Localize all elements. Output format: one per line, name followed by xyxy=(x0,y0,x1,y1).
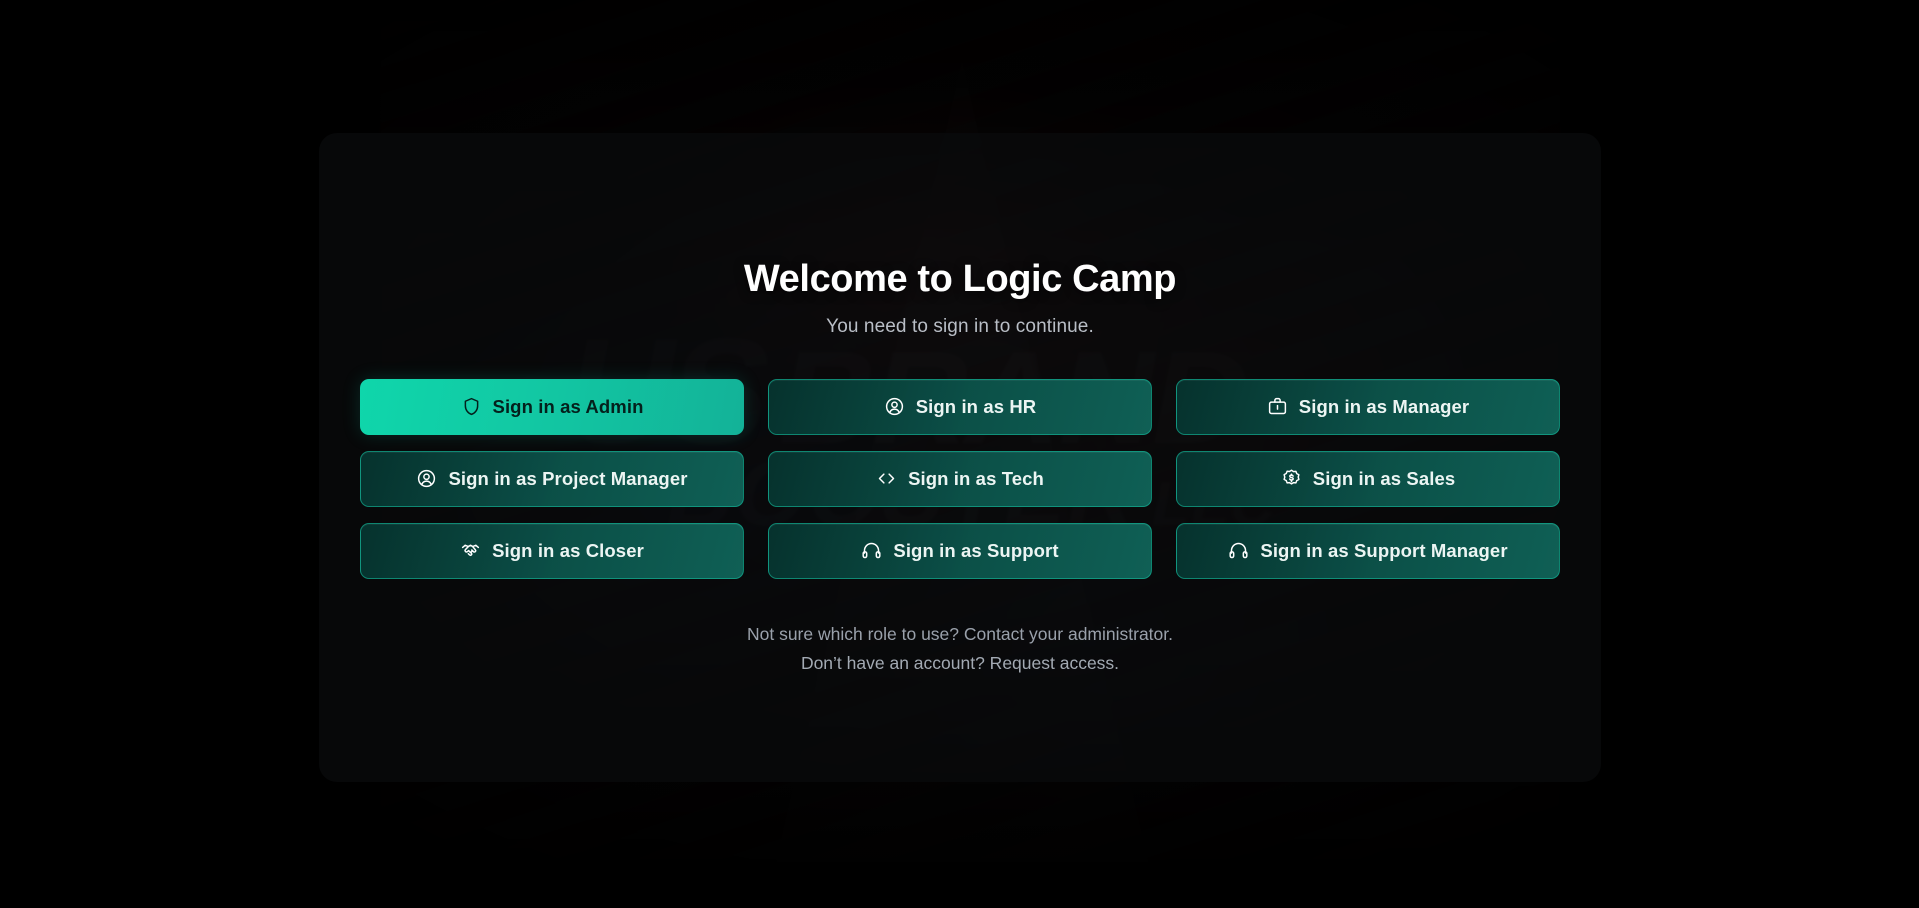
signin-as-project-manager-button[interactable]: Sign in as Project Manager xyxy=(360,451,744,507)
dollar-badge-icon xyxy=(1281,468,1302,489)
signin-as-support-manager-button[interactable]: Sign in as Support Manager xyxy=(1176,523,1560,579)
role-button-label: Sign in as Closer xyxy=(492,540,644,562)
signin-as-admin-button[interactable]: Sign in as Admin xyxy=(360,379,744,435)
shield-icon xyxy=(461,396,482,417)
role-button-label: Sign in as Support xyxy=(893,540,1058,562)
signin-as-manager-button[interactable]: Sign in as Manager xyxy=(1176,379,1560,435)
role-button-label: Sign in as Admin xyxy=(493,396,644,418)
user-circle-icon xyxy=(884,396,905,417)
user-circle-icon xyxy=(416,468,437,489)
headphones-icon xyxy=(861,540,882,561)
role-button-label: Sign in as Project Manager xyxy=(448,468,687,490)
handshake-icon xyxy=(460,540,481,561)
briefcase-icon xyxy=(1267,396,1288,417)
signin-as-support-button[interactable]: Sign in as Support xyxy=(768,523,1152,579)
role-button-label: Sign in as HR xyxy=(916,396,1037,418)
signin-as-hr-button[interactable]: Sign in as HR xyxy=(768,379,1152,435)
footer-request-access-text: Don’t have an account? Request access. xyxy=(319,649,1601,678)
code-icon xyxy=(876,468,897,489)
page-title: Welcome to Logic Camp xyxy=(319,258,1601,302)
footer-contact-admin-text: Not sure which role to use? Contact your… xyxy=(319,620,1601,649)
card-footer: Not sure which role to use? Contact your… xyxy=(319,620,1601,678)
page-subtitle: You need to sign in to continue. xyxy=(319,316,1601,338)
role-button-grid: Sign in as Admin Sign in as HR Sign in a… xyxy=(360,379,1560,579)
signin-as-tech-button[interactable]: Sign in as Tech xyxy=(768,451,1152,507)
role-button-label: Sign in as Manager xyxy=(1299,396,1469,418)
role-button-label: Sign in as Tech xyxy=(908,468,1044,490)
signin-as-closer-button[interactable]: Sign in as Closer xyxy=(360,523,744,579)
headphones-icon xyxy=(1228,540,1249,561)
signin-card: Welcome to Logic Camp You need to sign i… xyxy=(319,133,1601,782)
role-button-label: Sign in as Sales xyxy=(1313,468,1455,490)
role-button-label: Sign in as Support Manager xyxy=(1260,540,1507,562)
signin-as-sales-button[interactable]: Sign in as Sales xyxy=(1176,451,1560,507)
